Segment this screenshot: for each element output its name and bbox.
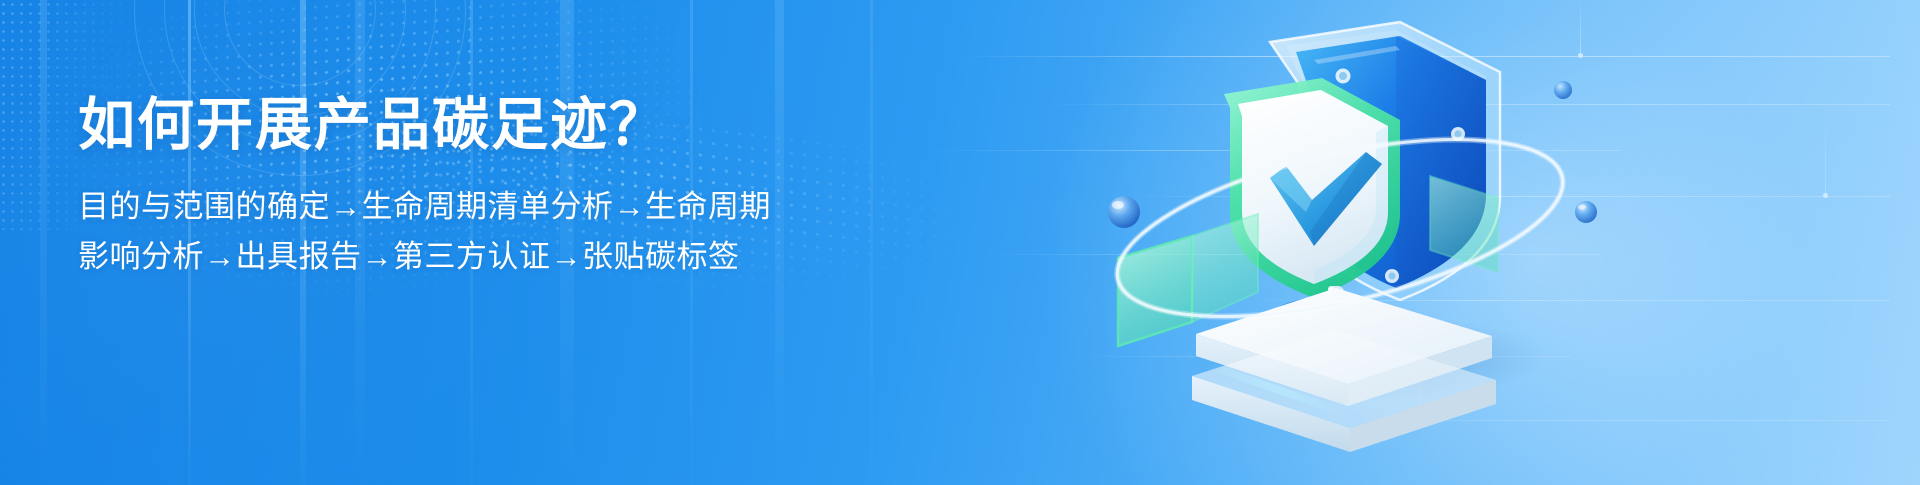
subtitle-block: 目的与范围的确定→生命周期清单分析→生命周期 影响分析→出具报告→第三方认证→张…	[78, 182, 978, 282]
carbon-footprint-banner: 如何开展产品碳足迹？ 目的与范围的确定→生命周期清单分析→生命周期 影响分析→出…	[0, 0, 1920, 485]
orbit-sphere	[1108, 196, 1140, 228]
orbit-sphere-right	[1575, 201, 1597, 223]
banner-text-block: 如何开展产品碳足迹？ 目的与范围的确定→生命周期清单分析→生命周期 影响分析→出…	[78, 92, 978, 283]
orbit-sphere-far	[1554, 81, 1572, 99]
subtitle-line-2: 影响分析→出具报告→第三方认证→张贴碳标签	[78, 232, 978, 282]
subtitle-line-1: 目的与范围的确定→生命周期清单分析→生命周期	[78, 182, 978, 232]
page-title: 如何开展产品碳足迹？	[78, 92, 978, 159]
light-streak	[40, 0, 47, 485]
shield-check-3d-illustration	[1100, 0, 1620, 485]
white-platform-base	[1192, 288, 1496, 452]
